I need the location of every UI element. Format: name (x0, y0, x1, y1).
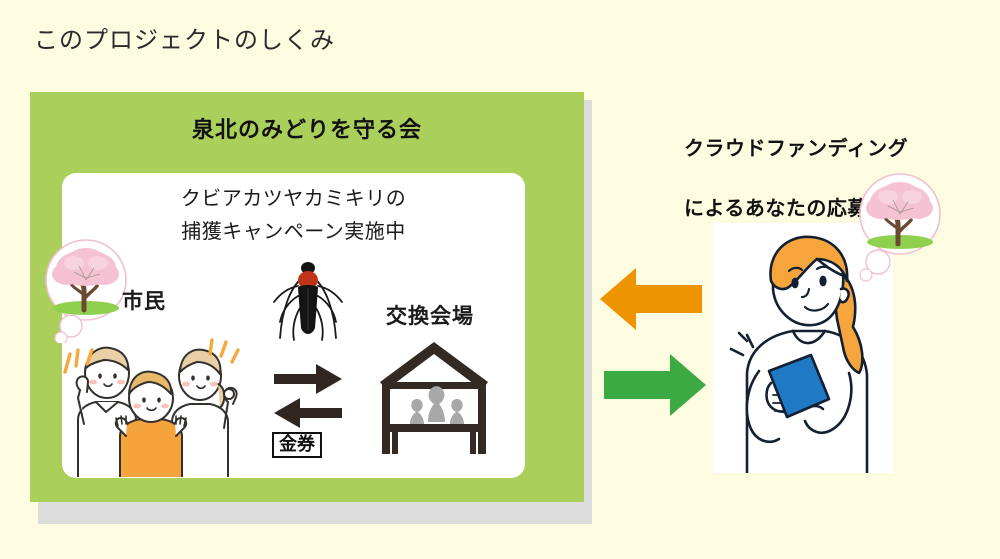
cherry-blossom-thought-bubble-right (844, 172, 956, 282)
arrow-right-green (602, 352, 708, 418)
venue-tent-icon (374, 336, 494, 458)
voucher-token: 金券 (272, 432, 322, 458)
slide-canvas: このプロジェクトのしくみ 泉北のみどりを守る会 クビアカツヤカミキリの 捕獲キャ… (0, 0, 1000, 559)
page-title: このプロジェクトのしくみ (34, 20, 335, 55)
venue-label: 交換会場 (386, 300, 474, 330)
citizens-family-illustration (60, 332, 240, 477)
arrow-left-orange (598, 266, 704, 332)
organization-name: 泉北のみどりを守る会 (30, 112, 584, 144)
crowdfunding-heading-line1: クラウドファンディング (684, 134, 908, 164)
longhorn-beetle-illustration (262, 252, 354, 357)
exchange-arrows (272, 360, 344, 430)
citizens-label: 市民 (122, 285, 166, 315)
campaign-heading-line1: クビアカツヤカミキリの (62, 183, 525, 216)
